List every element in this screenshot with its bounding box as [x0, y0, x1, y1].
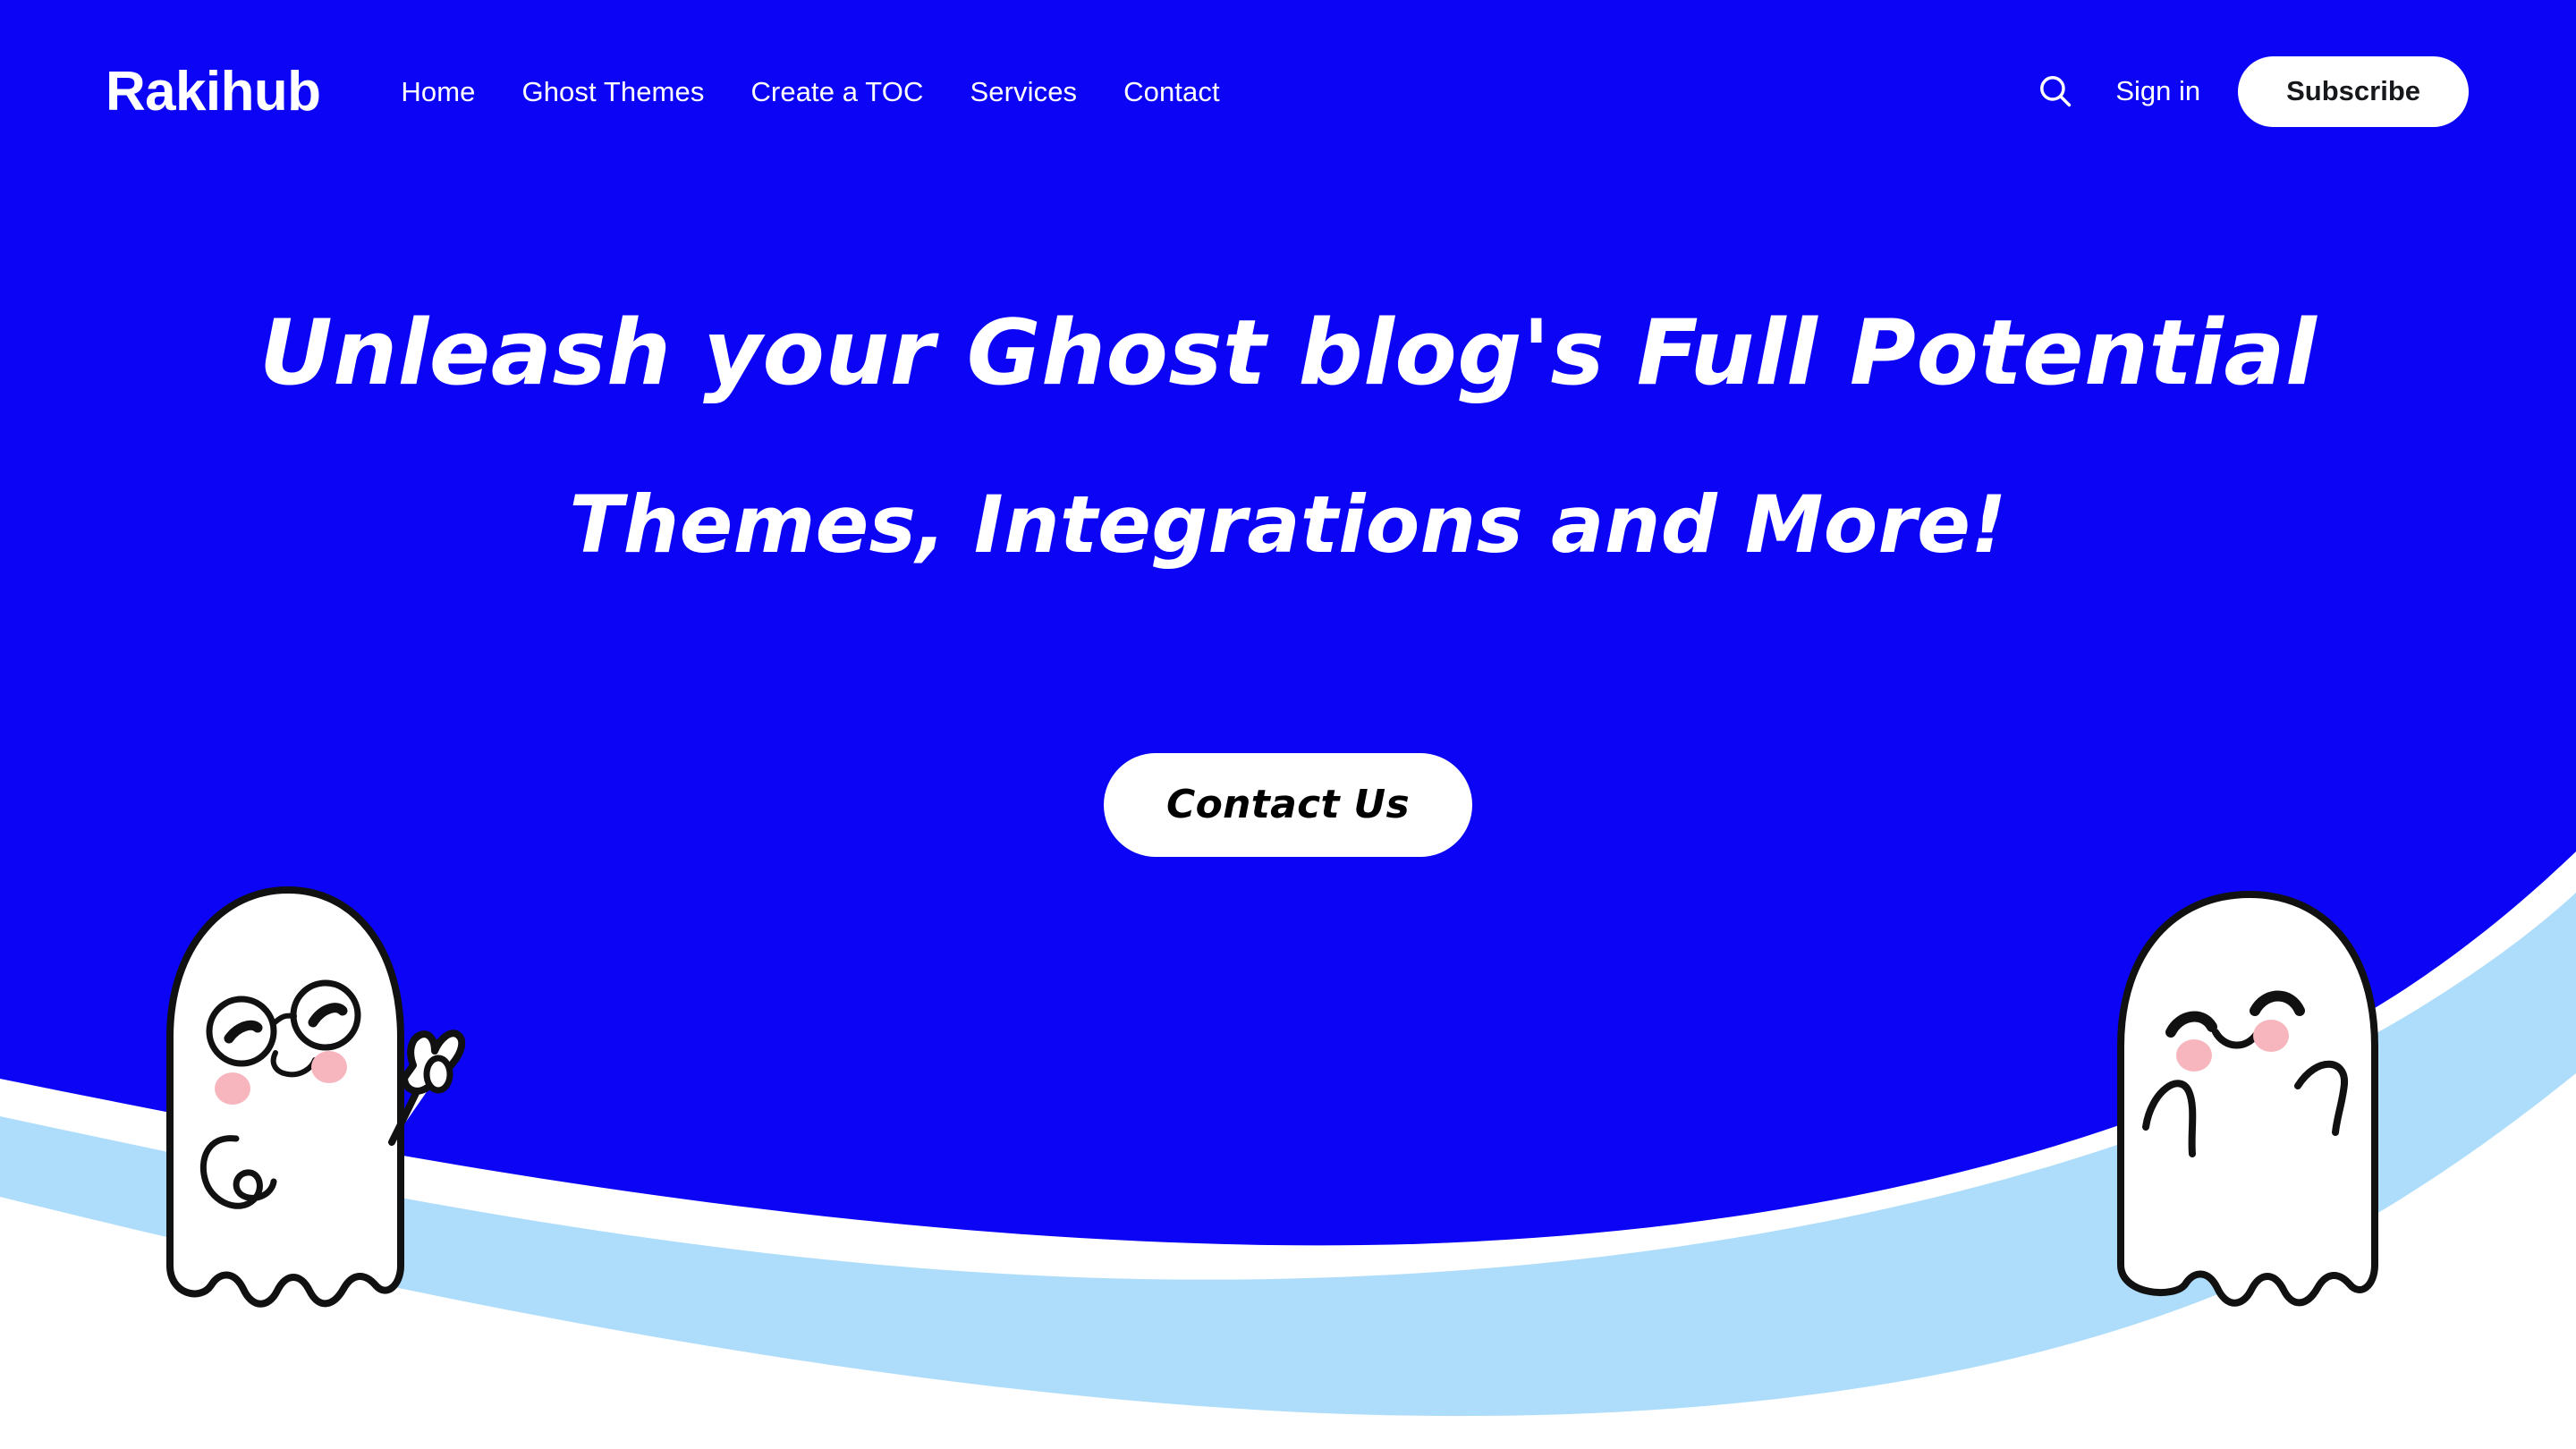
hero-title: Unleash your Ghost blog's Full Potential — [0, 302, 2576, 403]
ghost-mascot-right-illustration — [2106, 885, 2402, 1342]
ghost-left-blush-left — [215, 1072, 250, 1105]
nav-item-create-a-toc[interactable]: Create a TOC — [727, 67, 946, 117]
sign-in-link[interactable]: Sign in — [2115, 75, 2200, 107]
primary-nav: Home Ghost Themes Create a TOC Services … — [377, 67, 1242, 117]
header-actions: Sign in Subscribe — [2028, 56, 2469, 127]
nav-item-home[interactable]: Home — [377, 67, 498, 117]
nav-item-ghost-themes[interactable]: Ghost Themes — [498, 67, 727, 117]
site-header: Rakihub Home Ghost Themes Create a TOC S… — [0, 0, 2576, 183]
brand-logo[interactable]: Rakihub — [106, 64, 320, 120]
contact-us-button[interactable]: Contact Us — [1104, 753, 1472, 857]
search-icon — [2036, 72, 2075, 111]
nav-item-contact[interactable]: Contact — [1100, 67, 1243, 117]
ghost-right-blush-right — [2253, 1020, 2289, 1052]
hero-subtitle: Themes, Integrations and More! — [0, 480, 2576, 570]
page-root: Rakihub Home Ghost Themes Create a TOC S… — [0, 0, 2576, 1449]
ghost-mascot-right — [2106, 885, 2402, 1342]
ghost-left-body — [170, 890, 401, 1304]
search-button[interactable] — [2028, 64, 2083, 119]
ghost-mascot-left — [161, 881, 465, 1346]
nav-item-services[interactable]: Services — [946, 67, 1100, 117]
subscribe-button[interactable]: Subscribe — [2238, 56, 2469, 127]
ghost-left-blush-right — [311, 1051, 347, 1083]
ghost-right-blush-left — [2176, 1039, 2212, 1072]
ghost-mascot-left-illustration — [161, 881, 465, 1346]
hero-cta-wrapper: Contact Us — [0, 753, 2576, 857]
ghost-left-thumb — [427, 1058, 450, 1090]
